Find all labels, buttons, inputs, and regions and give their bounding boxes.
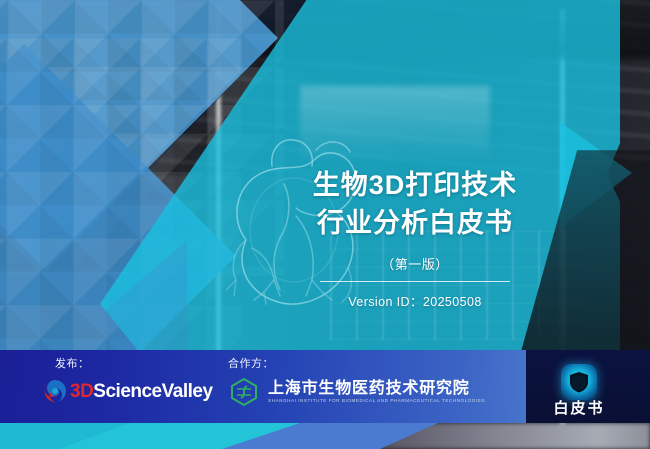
publisher-logo-prefix: 3D [70,381,93,402]
page-title-line-2: 行业分析白皮书 [296,204,534,242]
hexagon-leaf-icon [228,376,260,408]
bottom-decoration-strip [0,423,650,449]
title-block: 生物3D打印技术 行业分析白皮书 （第一版） Version ID：202505… [296,166,534,310]
publisher-logo[interactable]: 3DScienceValley [42,378,213,404]
title-divider [320,281,510,282]
page-title-line-1: 生物3D打印技术 [296,166,534,204]
shield-icon [561,364,597,400]
bottom-partner-bar: 发布： 合作方： 3DScienceValley [0,350,650,423]
whitepaper-logo[interactable]: 白皮书 whitepaper [549,364,609,423]
partner-logo[interactable]: 上海市生物医药技术研究院 SHANGHAI INSTITUTE FOR BIOM… [228,376,485,408]
partner-name-cn: 上海市生物医药技术研究院 [268,381,485,397]
swirl-icon [42,378,68,404]
whitepaper-name-cn: 白皮书 [553,400,604,417]
partner-label: 合作方： [228,355,274,371]
partner-name-en: SHANGHAI INSTITUTE FOR BIOMEDICAL AND PH… [268,399,485,404]
whitepaper-cover: 生物3D打印技术 行业分析白皮书 （第一版） Version ID：202505… [0,0,650,449]
edition-label: （第一版） [296,254,534,273]
version-id-label: Version ID：20250508 [296,291,534,310]
publisher-label: 发布： [55,355,90,371]
publisher-logo-name: ScienceValley [93,381,212,402]
